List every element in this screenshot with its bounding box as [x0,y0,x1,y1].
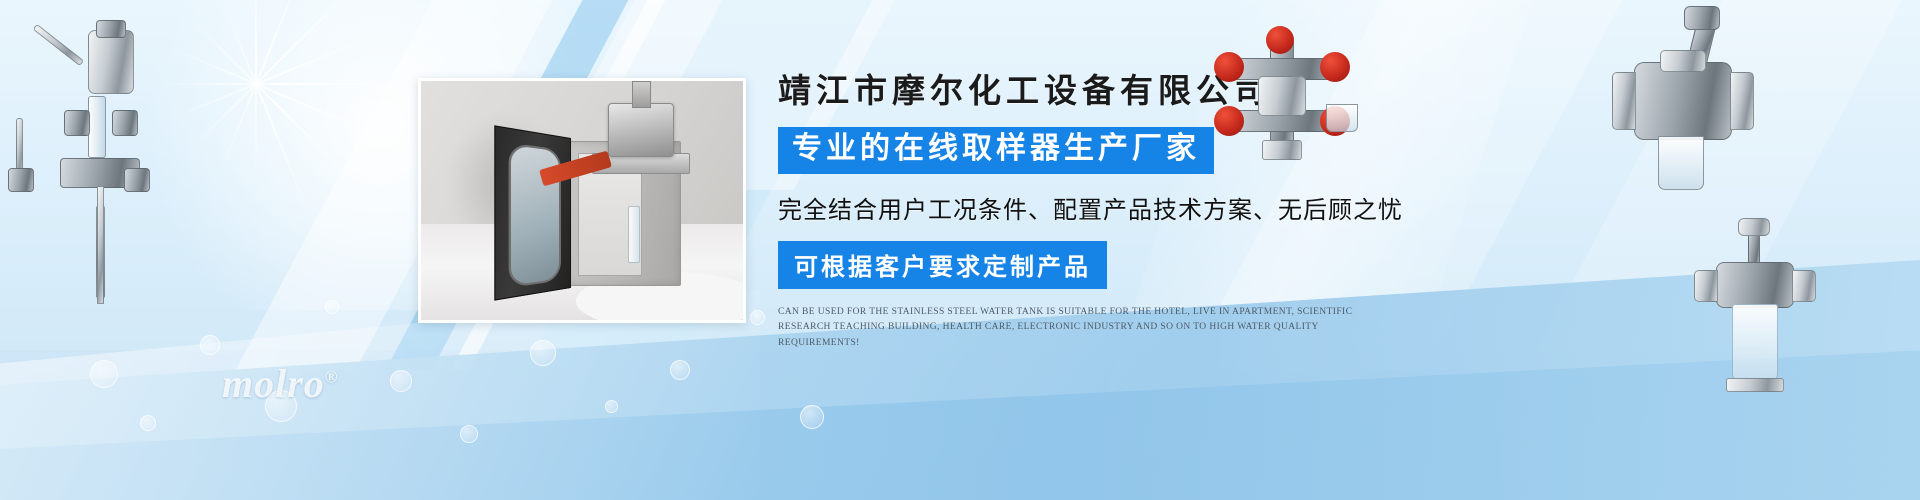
valve-handwheel-icon [1266,26,1294,54]
bubble-icon [800,405,824,429]
product-banner: 在线取样器柜体产品照片 靖江市摩尔化工设备有限公司 专业的在线取样器生产厂家 完… [0,0,1920,500]
bubble-icon [390,370,412,392]
sampler-valve-body [64,110,90,136]
sampler-head-housing [88,30,134,94]
bubble-icon [140,415,156,431]
photo-sample-bottle [628,206,640,262]
valve-outlet-bottle [1326,104,1358,132]
flange-disc-left [1612,72,1636,130]
watermark-logo: molro® [222,360,339,407]
sampler-end-fitting [124,168,150,192]
headline-highlight: 专业的在线取样器生产厂家 [778,127,1214,173]
valve-handwheel-icon [1214,106,1244,136]
valve-handwheel-icon [1320,52,1350,82]
watermark-text: molro [222,361,325,406]
inline-sampler-knob [1738,218,1770,236]
sampler-cap [96,20,126,38]
inline-sampler-base [1726,378,1784,392]
flange-valve-bonnet [1660,50,1706,72]
inline-sampler-bottle-glass [1732,304,1778,382]
bubble-icon [670,360,690,380]
sun-ray-icon [160,83,400,85]
bubble-icon [200,335,220,355]
photo-valve-head [608,103,674,158]
bubble-icon [530,340,556,366]
sampler-valve-body [112,110,138,136]
flange-valve-outlet [1658,136,1704,190]
flange-disc-right [1730,72,1754,130]
flange-valve-handle-head [1684,6,1720,30]
valve-body-center [1258,76,1306,116]
english-description: Can be used for the stainless steel wate… [778,305,1388,352]
sampler-end-fitting [8,168,34,192]
bubble-icon [605,400,618,413]
product-photo-image: 在线取样器柜体产品照片 [421,81,743,320]
sampler-glass-tube [88,96,106,158]
photo-cabinet-door [495,126,572,302]
bubble-icon [460,425,478,443]
registered-mark-icon: ® [325,368,339,387]
inline-sampler-body [1716,262,1794,308]
product-photo: 在线取样器柜体产品照片 [418,78,746,323]
bubble-icon [750,310,765,325]
bubble-icon [325,300,339,314]
inline-sampler-flange-right [1792,270,1816,302]
valve-bottom-fitting [1262,140,1302,160]
sampler-probe [97,186,104,304]
flange-valve-body [1634,62,1732,140]
bubble-icon [90,360,118,388]
sub-headline: 完全结合用户工况条件、配置产品技术方案、无后顾之忧 [778,190,1398,225]
photo-door-window [509,143,561,289]
inline-sampler-flange-left [1694,270,1718,302]
valve-handwheel-icon [1214,52,1244,82]
custom-product-highlight: 可根据客户要求定制产品 [778,241,1107,289]
